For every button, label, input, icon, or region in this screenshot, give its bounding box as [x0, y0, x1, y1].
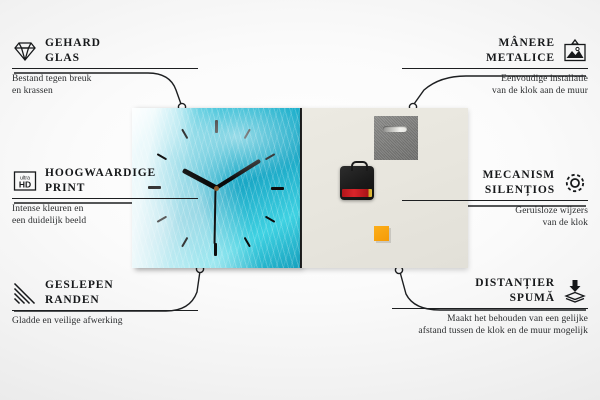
clock-mechanism-box	[340, 166, 374, 200]
callout-description: Geruisloze wijzers van de klok	[402, 205, 588, 229]
callout-mecanism-silentios: MECANISM SILENȚIOS Geruisloze wijzers va…	[402, 168, 588, 229]
callout-head: GESLEPEN RANDEN	[12, 278, 198, 307]
callout-geslepen-randen: GESLEPEN RANDEN Gladde en veilige afwerk…	[12, 278, 198, 327]
clock-center-cap	[214, 186, 219, 191]
callout-description: Intense kleuren en een duidelijk beeld	[12, 203, 198, 227]
callout-description: Gladde en veilige afwerking	[12, 315, 198, 327]
callout-title: GESLEPEN RANDEN	[45, 278, 114, 307]
infographic-canvas: GEHARD GLAS Bestand tegen breuk en krass…	[0, 0, 600, 400]
picture-frame-icon	[562, 38, 588, 64]
callout-divider	[402, 200, 588, 201]
callout-hoogwaardige-print: ultra HD HOOGWAARDIGE PRINT Intense kleu…	[12, 166, 198, 227]
callout-head: MECANISM SILENȚIOS	[402, 168, 588, 197]
foam-spacer-icon	[562, 278, 588, 304]
callout-head: ultra HD HOOGWAARDIGE PRINT	[12, 166, 198, 195]
callout-divider	[12, 68, 198, 69]
callout-head: GEHARD GLAS	[12, 36, 198, 65]
foam-spacer	[374, 226, 389, 241]
metal-hanger-plate	[374, 116, 418, 160]
callout-title: HOOGWAARDIGE PRINT	[45, 166, 156, 195]
clock-minute-hand	[215, 159, 261, 190]
callout-gehard-glas: GEHARD GLAS Bestand tegen breuk en krass…	[12, 36, 198, 97]
callout-head: MÂNERE METALICE	[402, 36, 588, 65]
callout-title: DISTANȚIER SPUMĂ	[475, 276, 555, 305]
clock-second-hand	[214, 188, 216, 244]
hanger-keyhole-slot	[383, 126, 407, 132]
callout-title: MÂNERE METALICE	[486, 36, 555, 65]
callout-description: Maakt het behouden van een gelijke afsta…	[392, 313, 588, 337]
callout-divider	[392, 308, 588, 309]
callout-description: Bestand tegen breuk en krassen	[12, 73, 198, 97]
callout-description: Eenvoudige installatie van de klok aan d…	[402, 73, 588, 97]
callout-manere-metalice: MÂNERE METALICE Eenvoudige installatie v…	[402, 36, 588, 97]
callout-divider	[12, 310, 198, 311]
callout-title: GEHARD GLAS	[45, 36, 101, 65]
diamond-icon	[12, 38, 38, 64]
ultra-hd-icon: ultra HD	[12, 168, 38, 194]
gear-icon	[562, 170, 588, 196]
callout-divider	[12, 198, 198, 199]
callout-distantier-spuma: DISTANȚIER SPUMĂ Maakt het behouden van …	[392, 276, 588, 337]
mechanism-hanging-loop	[351, 161, 368, 171]
svg-text:HD: HD	[19, 179, 31, 189]
callout-title: MECANISM SILENȚIOS	[483, 168, 555, 197]
callout-divider	[402, 68, 588, 69]
callout-head: DISTANȚIER SPUMĂ	[392, 276, 588, 305]
battery	[342, 189, 372, 197]
beveled-edges-icon	[12, 280, 38, 306]
